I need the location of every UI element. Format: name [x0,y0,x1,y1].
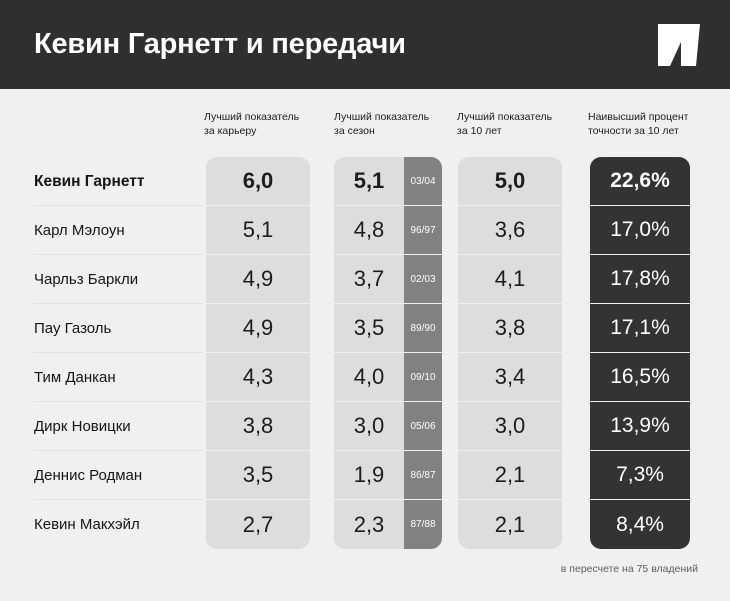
cell-accuracy-pct: 13,9% [590,402,690,451]
cell-season-best: 4,0 [334,353,404,402]
cell-season-best: 3,0 [334,402,404,451]
cell-ten-year-best: 2,1 [458,451,562,500]
cell-career-best: 5,1 [206,206,310,255]
cell-career-best: 3,8 [206,402,310,451]
column-headers: Лучший показатель за карьеру Лучший пока… [0,110,730,156]
cell-career-best: 3,5 [206,451,310,500]
cell-ten-year-best: 3,8 [458,304,562,353]
cell-season-best: 4,8 [334,206,404,255]
table-row: Кевин Макхэйл2,72,387/882,18,4% [0,500,730,549]
player-name: Пау Газоль [34,304,204,353]
cell-accuracy-pct: 17,8% [590,255,690,304]
cell-ten-year-best: 3,6 [458,206,562,255]
cell-season-best: 2,3 [334,500,404,549]
cell-career-best: 4,9 [206,255,310,304]
column-header-accuracy-pct: Наивысший процент точности за 10 лет [588,110,713,138]
page-title: Кевин Гарнетт и передачи [34,28,406,61]
infographic-root: Кевин Гарнетт и передачи Лучший показате… [0,0,730,601]
table-row: Тим Данкан4,34,009/103,416,5% [0,353,730,402]
column-header-ten-year-best: Лучший показатель за 10 лет [457,110,577,138]
table-row: Кевин Гарнетт6,05,103/045,022,6% [0,157,730,206]
player-name: Карл Мэлоун [34,206,204,255]
player-name: Кевин Макхэйл [34,500,204,549]
season-badge: 96/97 [404,206,442,255]
table-row: Пау Газоль4,93,589/903,817,1% [0,304,730,353]
cell-ten-year-best: 3,0 [458,402,562,451]
player-name: Тим Данкан [34,353,204,402]
cell-accuracy-pct: 22,6% [590,157,690,206]
cell-season-best: 3,5 [334,304,404,353]
season-badge: 03/04 [404,157,442,206]
cell-accuracy-pct: 17,1% [590,304,690,353]
cell-accuracy-pct: 8,4% [590,500,690,549]
footer-note: в пересчете на 75 владений [561,563,698,575]
cell-ten-year-best: 4,1 [458,255,562,304]
table-row: Чарльз Баркли4,93,702/034,117,8% [0,255,730,304]
cell-season-best: 5,1 [334,157,404,206]
column-header-career-best: Лучший показатель за карьеру [204,110,324,138]
header-bar: Кевин Гарнетт и передачи [0,0,730,89]
cell-career-best: 4,9 [206,304,310,353]
player-name: Кевин Гарнетт [34,157,204,206]
season-badge: 09/10 [404,353,442,402]
cell-season-best: 3,7 [334,255,404,304]
season-badge: 05/06 [404,402,442,451]
player-name: Деннис Родман [34,451,204,500]
cell-career-best: 6,0 [206,157,310,206]
season-badge: 89/90 [404,304,442,353]
stats-table: Кевин Гарнетт6,05,103/045,022,6%Карл Мэл… [0,157,730,549]
cell-accuracy-pct: 7,3% [590,451,690,500]
cell-accuracy-pct: 16,5% [590,353,690,402]
cell-career-best: 2,7 [206,500,310,549]
cell-ten-year-best: 5,0 [458,157,562,206]
column-header-season-best: Лучший показатель за сезон [334,110,454,138]
season-badge: 02/03 [404,255,442,304]
table-row: Деннис Родман3,51,986/872,17,3% [0,451,730,500]
player-name: Дирк Новицки [34,402,204,451]
cell-career-best: 4,3 [206,353,310,402]
table-row: Дирк Новицки3,83,005/063,013,9% [0,402,730,451]
table-row: Карл Мэлоун5,14,896/973,617,0% [0,206,730,255]
brand-flag-icon [656,20,702,70]
cell-accuracy-pct: 17,0% [590,206,690,255]
cell-season-best: 1,9 [334,451,404,500]
season-badge: 86/87 [404,451,442,500]
player-name: Чарльз Баркли [34,255,204,304]
cell-ten-year-best: 3,4 [458,353,562,402]
cell-ten-year-best: 2,1 [458,500,562,549]
season-badge: 87/88 [404,500,442,549]
